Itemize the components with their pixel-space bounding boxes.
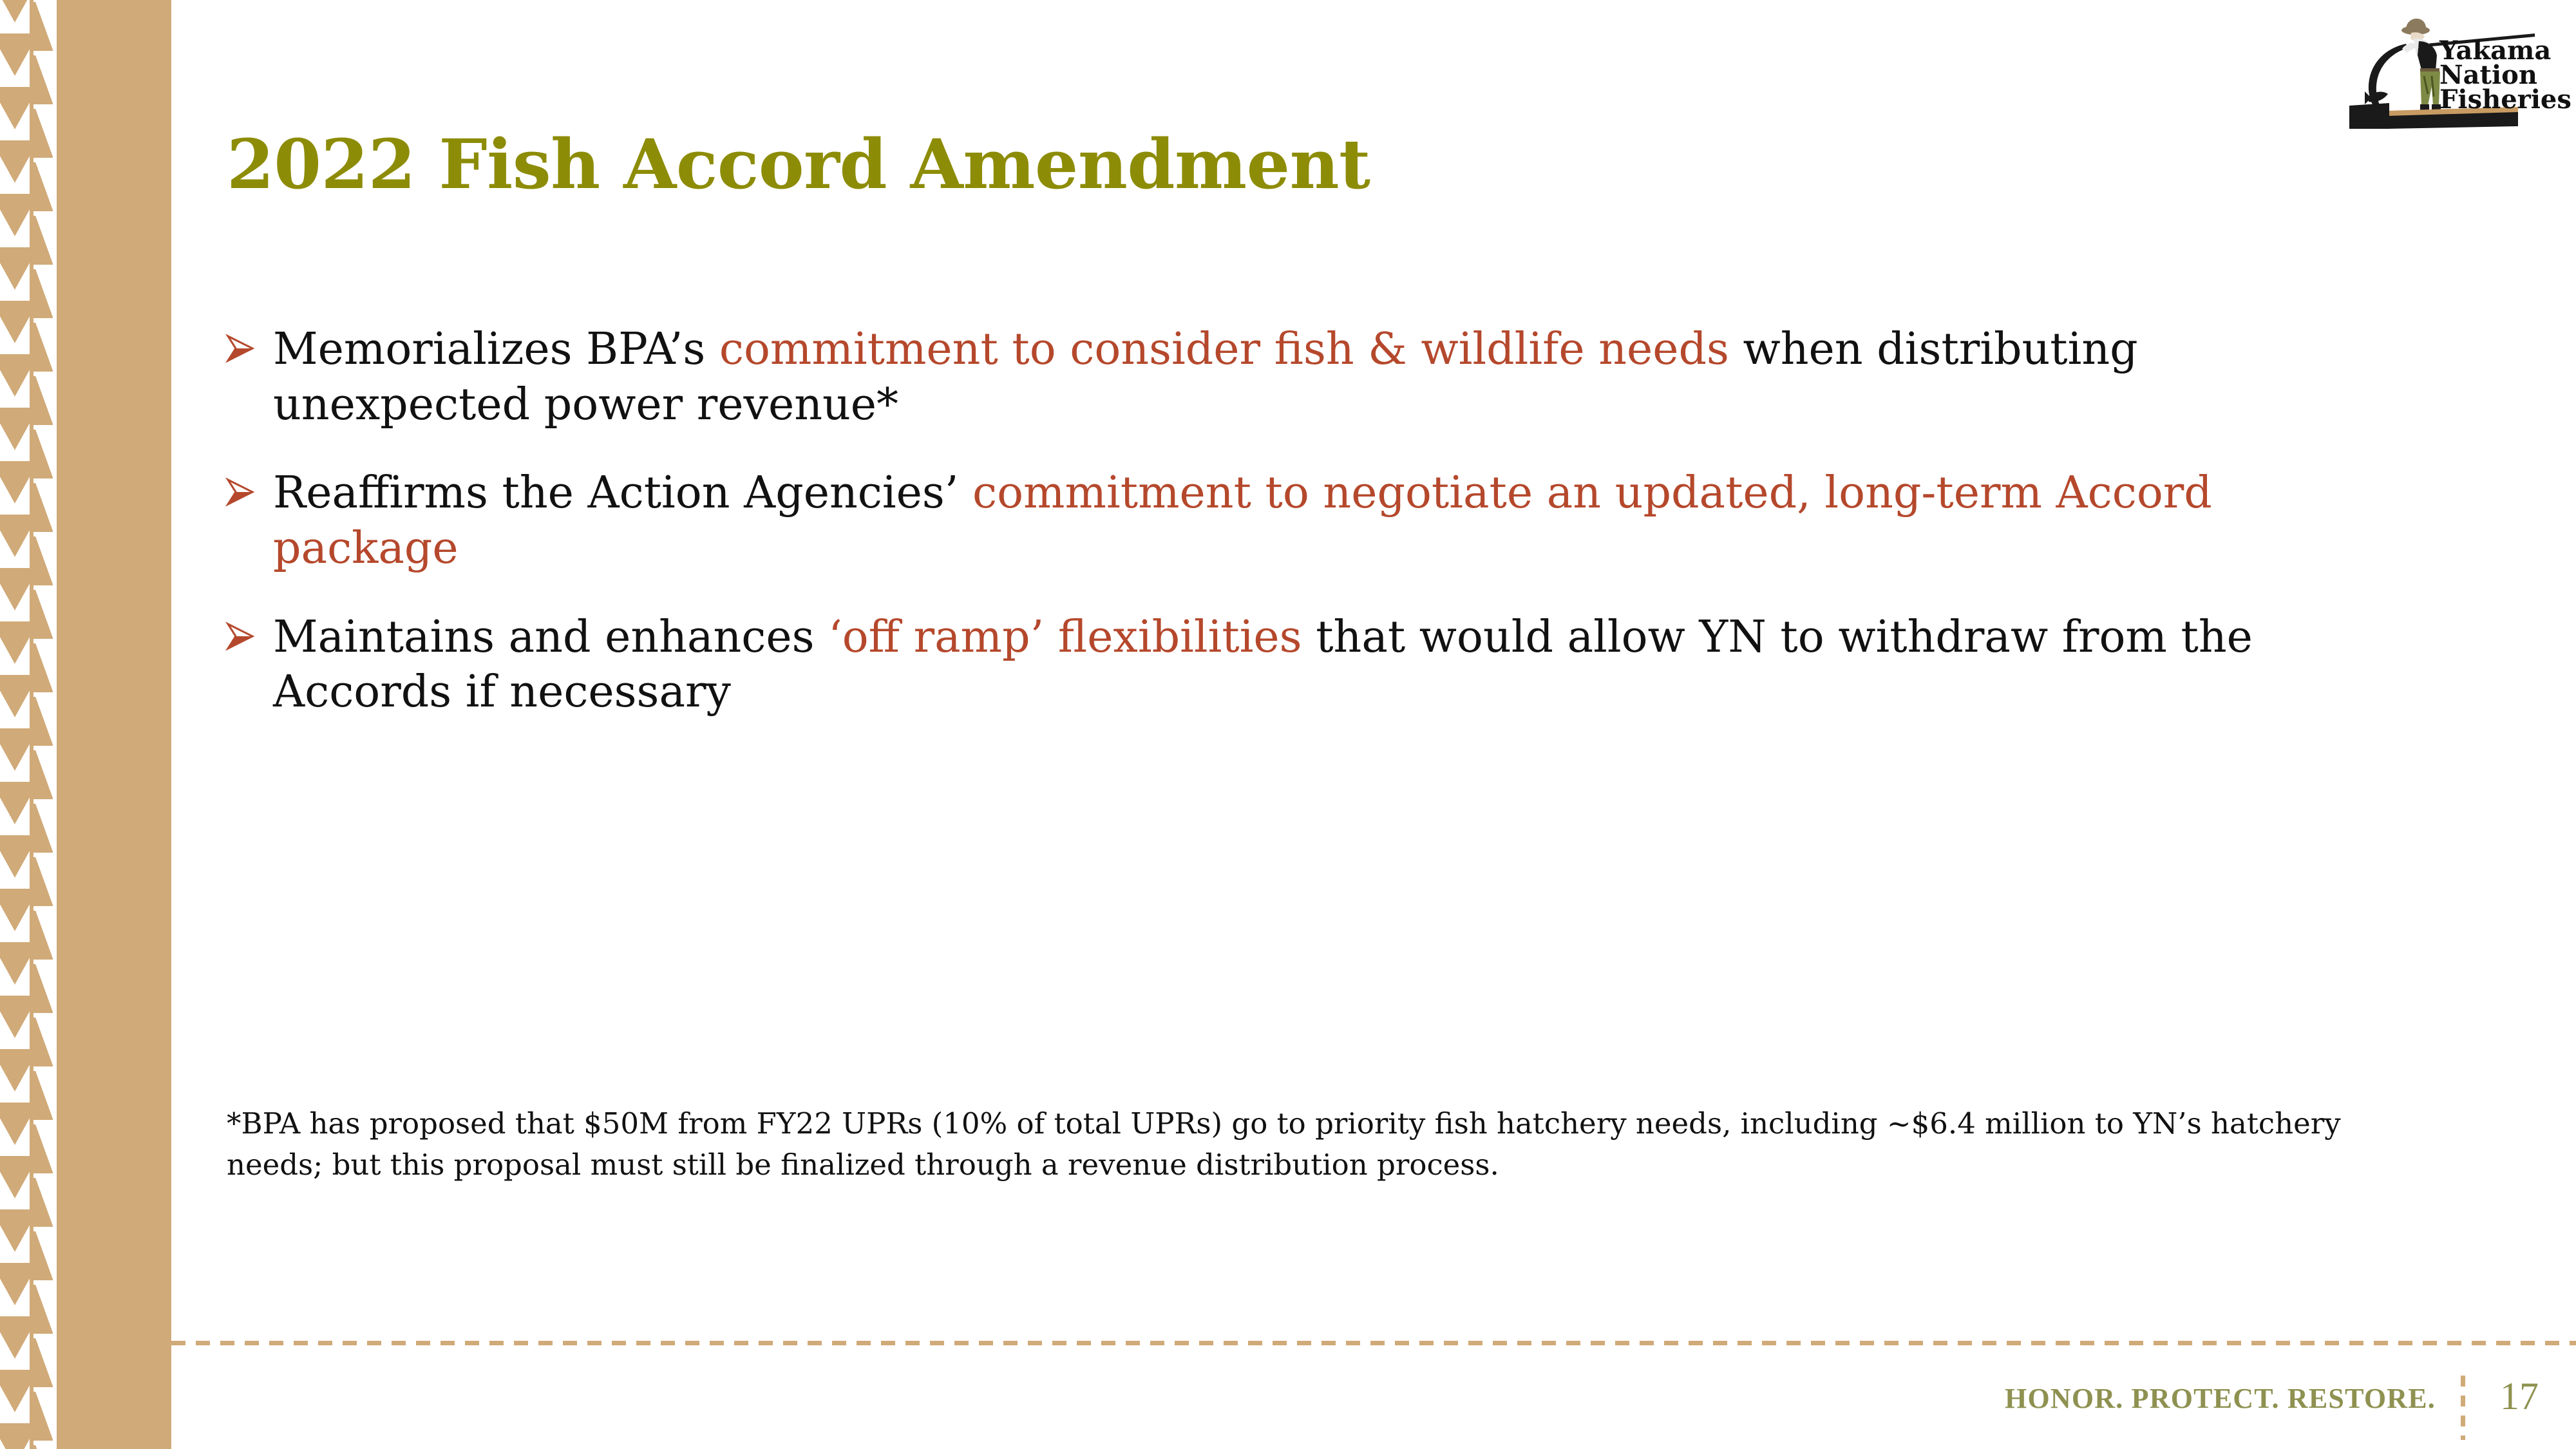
arrowhead-bullet-icon	[222, 619, 258, 655]
footer-divider-rule	[171, 1341, 2576, 1345]
footer-vertical-divider	[2461, 1376, 2465, 1440]
bullet-item-1: Memorializes BPA’s commitment to conside…	[216, 322, 2380, 432]
footnote-text: *BPA has proposed that $50M from FY22 UP…	[227, 1103, 2436, 1186]
bullet-item-2: Reaffirms the Action Agencies’ commitmen…	[216, 466, 2380, 576]
bullet-2-segment-1: Reaffirms the Action Agencies’	[273, 468, 972, 518]
triangle-pattern-icon	[0, 0, 30, 1449]
slide-canvas: 2022 Fish Accord Amendment	[0, 0, 2576, 1449]
border-gutter	[53, 0, 57, 1449]
slide-title: 2022 Fish Accord Amendment	[227, 128, 2223, 200]
left-decorative-border	[0, 0, 171, 1449]
bullet-list: Memorializes BPA’s commitment to conside…	[216, 322, 2380, 753]
bullet-3-segment-2: ‘off ramp’ flexibilities	[828, 612, 1302, 663]
sawtooth-pattern-icon	[33, 0, 53, 1449]
arrowhead-bullet-icon	[222, 331, 258, 367]
logo-line-3: Fisheries	[2439, 84, 2571, 115]
arrowhead-bullet-icon	[222, 475, 258, 511]
page-number: 17	[2500, 1374, 2539, 1419]
bullet-1-segment-1: Memorializes BPA’s	[273, 324, 719, 375]
yakama-nation-fisheries-logo: Yakama Nation Fisheries	[2349, 9, 2571, 129]
bullet-1-segment-2: commitment to consider fish & wildlife n…	[719, 324, 1729, 375]
bullet-3-segment-1: Maintains and enhances	[273, 612, 828, 663]
footer-tagline: HONOR. PROTECT. RESTORE.	[2005, 1382, 2436, 1415]
bullet-item-3: Maintains and enhances ‘off ramp’ flexib…	[216, 610, 2380, 720]
